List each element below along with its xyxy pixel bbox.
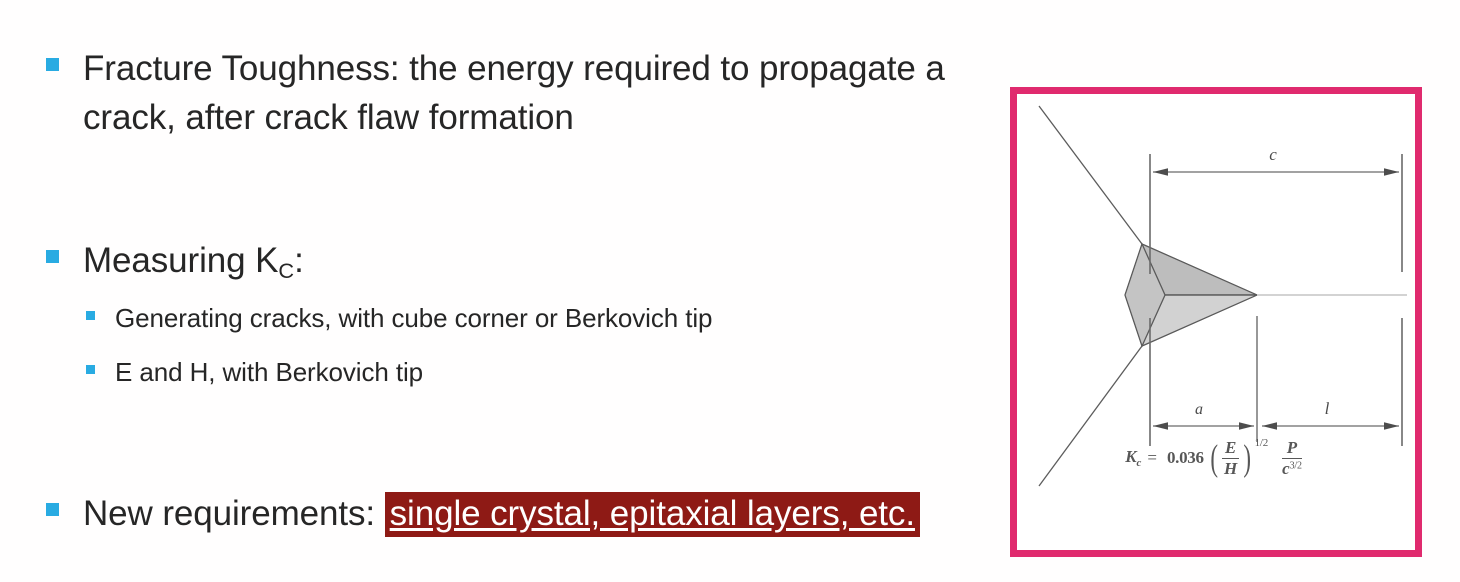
bullet-item-fracture-toughness: Fracture Toughness: the energy required … [46,44,1036,142]
bullet-text-new-requirements: New requirements: single crystal, epitax… [83,489,920,538]
formula-open-paren: ( [1210,440,1218,477]
dimension-c: c [1150,145,1402,274]
formula-e: E [1222,439,1239,459]
measuring-colon: : [294,241,304,280]
measuring-label: Measuring K [83,241,278,280]
formula-exponent-half: 1/2 [1255,437,1268,449]
bullet-text-e-and-h: E and H, with Berkovich tip [115,354,423,390]
sub-bullet-square-icon [86,311,95,320]
fracture-toughness-formula: Kc = 0.036 ( E H ) 1/2 P c3/2 [1017,439,1415,478]
formula-coefficient: 0.036 [1167,448,1204,468]
bullet-item-generating-cracks: Generating cracks, with cube corner or B… [86,300,712,336]
label-c: c [1269,145,1277,164]
kc-subscript: C [278,258,294,283]
indentation-diagram-svg: c a l [1017,94,1415,550]
label-a: a [1195,401,1203,418]
formula-equals: = [1147,448,1157,468]
bullet-item-new-requirements: New requirements: single crystal, epitax… [46,489,920,538]
formula-c-exponent: 3/2 [1290,460,1302,471]
formula-kc-symbol: Kc [1125,447,1141,469]
bullet-text-generating-cracks: Generating cracks, with cube corner or B… [115,300,712,336]
bullet-square-icon [46,503,59,516]
bullet-item-e-and-h: E and H, with Berkovich tip [86,354,423,390]
formula-row: Kc = 0.036 ( E H ) 1/2 P c3/2 [1125,439,1307,478]
formula-kc-subscript: c [1137,457,1142,469]
figure-panel-indentation: c a l Kc = [1010,87,1422,557]
sub-bullet-square-icon [86,365,95,374]
bullet-square-icon [46,250,59,263]
bullet-content-column: Fracture Toughness: the energy required … [0,0,1010,582]
bullet-text-fracture-toughness: Fracture Toughness: the energy required … [83,44,1033,142]
label-l: l [1325,399,1330,418]
new-requirements-label: New requirements: [83,494,375,533]
bullet-square-icon [46,58,59,71]
formula-h: H [1221,459,1240,478]
bullet-item-measuring-kc: Measuring KC: [46,236,304,295]
highlighted-requirements-text: single crystal, epitaxial layers, etc. [385,492,920,537]
slide-canvas: Fracture Toughness: the energy required … [0,0,1460,582]
bullet-text-measuring-kc: Measuring KC: [83,236,304,295]
formula-p: P [1282,439,1302,459]
formula-close-paren: ) [1244,440,1252,477]
dimension-a-l: a l [1150,316,1402,446]
formula-c-denominator: c3/2 [1277,459,1307,478]
formula-p-over-c: P c3/2 [1277,439,1307,478]
formula-e-over-h: E H [1221,439,1240,478]
indent-shape [1125,244,1257,346]
